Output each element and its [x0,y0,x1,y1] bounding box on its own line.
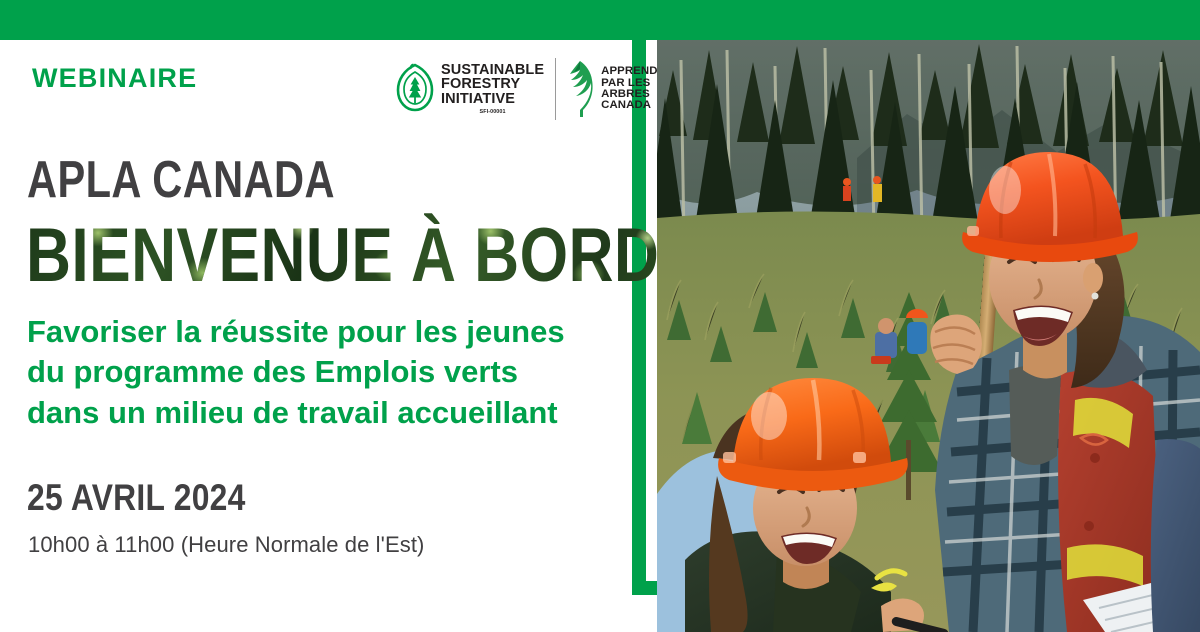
eyebrow-label: WEBINAIRE [32,63,197,94]
logo-divider [555,58,556,120]
subtitle-line-2: du programme des Emplois verts [27,352,617,392]
subtitle: Favoriser la réussite pour les jeunes du… [27,312,617,433]
content-panel: WEBINAIRE SUSTAINABLE FORESTRY INITIA [0,40,632,632]
plt-conifer-tree-icon [567,60,594,118]
sfi-logo: SUSTAINABLE FORESTRY INITIATIVE SFI-0000… [396,63,544,115]
hero-title: BIENVENUE À BORD! [26,212,680,299]
green-top-bar [0,0,1200,40]
hero-photo [657,40,1200,632]
webinar-poster: WEBINAIRE SUSTAINABLE FORESTRY INITIA [0,0,1200,632]
sfi-line-3: INITIATIVE [441,92,515,106]
sfi-wordmark: SUSTAINABLE FORESTRY INITIATIVE SFI-0000… [441,63,544,115]
subtitle-line-1: Favoriser la réussite pour les jeunes [27,312,617,352]
sfi-leaf-tree-icon [396,63,434,115]
subtitle-line-3: dans un milieu de travail accueillant [27,393,617,433]
sfi-line-2: FORESTRY [441,77,520,91]
kicker-title: APLA CANADA [27,150,335,210]
logo-lockup: SUSTAINABLE FORESTRY INITIATIVE SFI-0000… [396,52,674,126]
sfi-line-1: SUSTAINABLE [441,63,544,77]
event-time: 10h00 à 11h00 (Heure Normale de l'Est) [28,532,424,558]
event-date: 25 AVRIL 2024 [27,477,246,519]
sfi-cert-code: SFI-00001 [480,110,506,115]
